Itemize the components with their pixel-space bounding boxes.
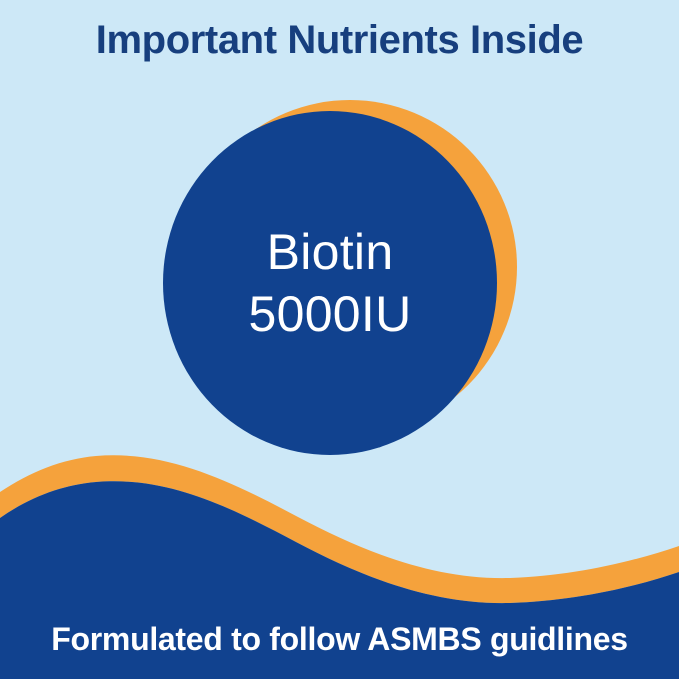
footer-tagline: Formulated to follow ASMBS guidlines <box>0 620 679 658</box>
bottom-wave-decoration <box>0 0 679 679</box>
product-infographic-card: Important Nutrients Inside Biotin 5000IU… <box>0 0 679 679</box>
